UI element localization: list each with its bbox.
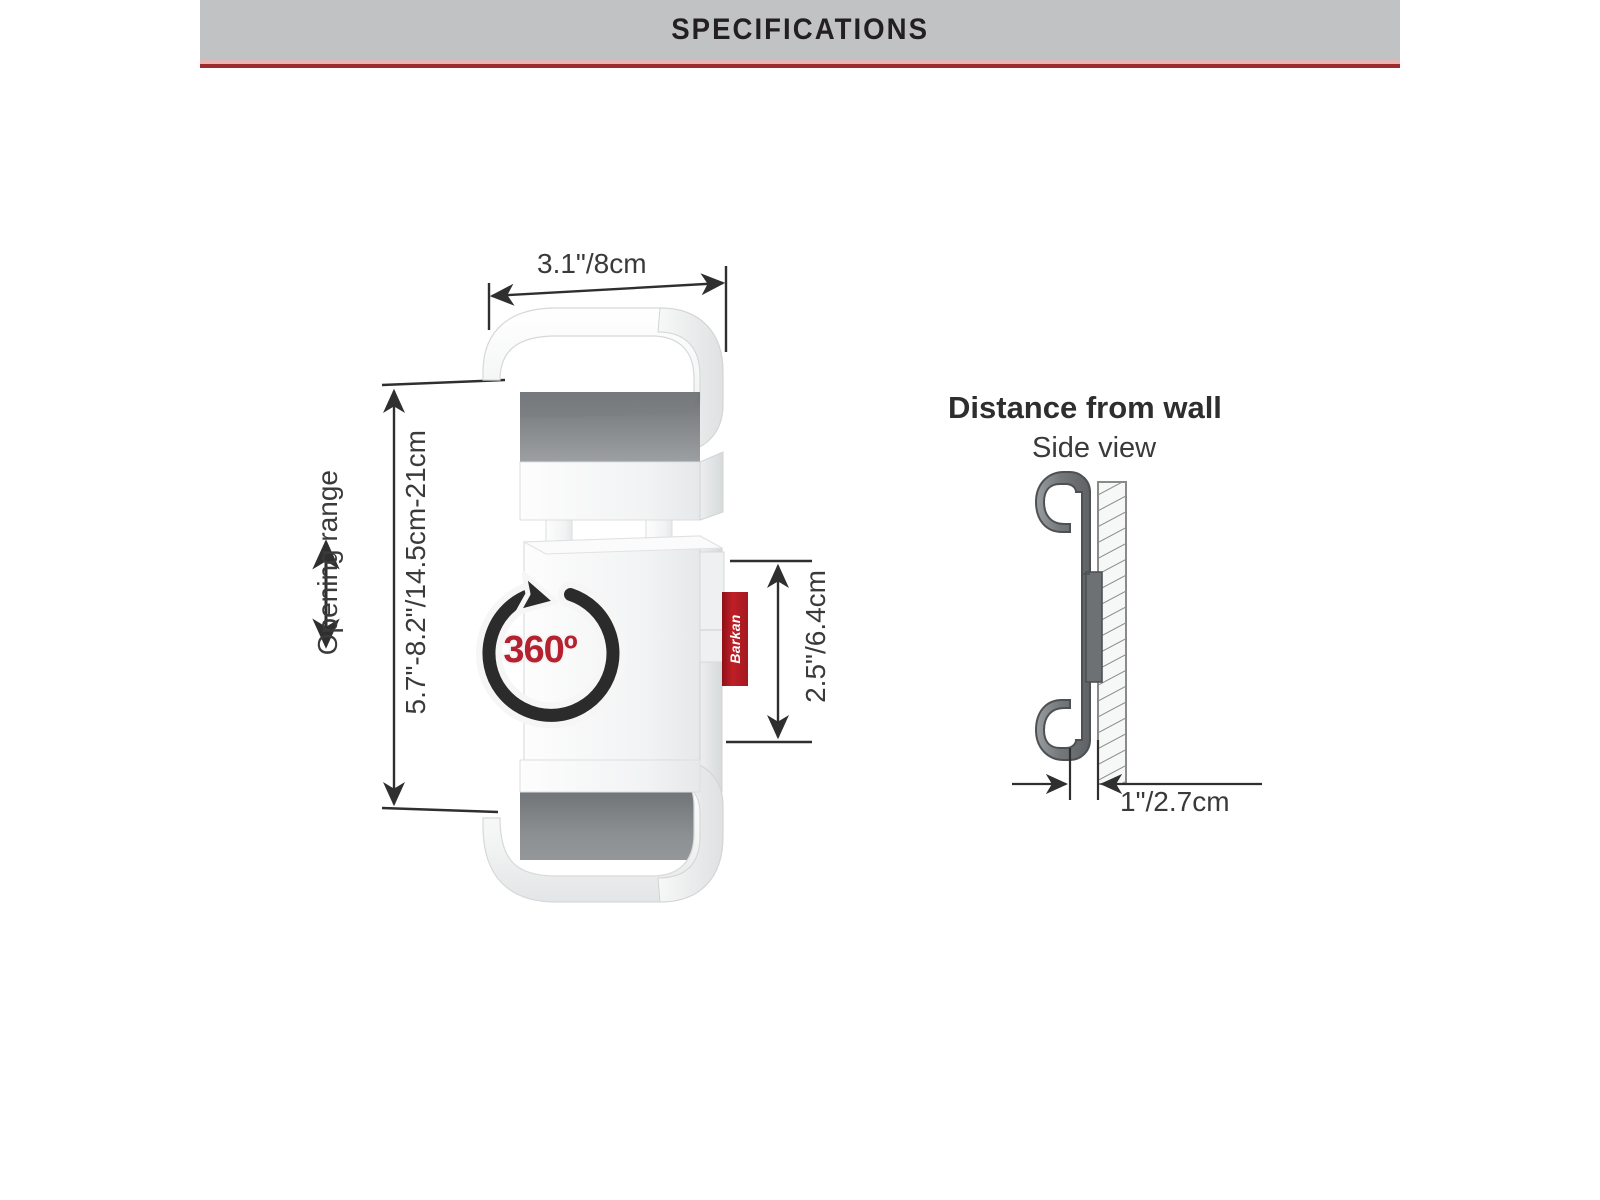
distance-from-wall-title: Distance from wall (948, 390, 1222, 426)
specifications-page: SPECIFICATIONS (0, 0, 1600, 1200)
rotation-badge: 360º (462, 572, 618, 728)
top-clamp-plate (520, 462, 700, 520)
width-dimension-label: 3.1"/8cm (537, 248, 647, 280)
bracket-profile (1036, 472, 1090, 760)
bottom-clamp-hook (483, 760, 723, 902)
top-clamp-hook (483, 308, 723, 452)
bottom-clamp-plate (520, 760, 700, 792)
bottom-clamp-inner-shade-lo (520, 832, 700, 860)
center-body-top (524, 536, 722, 554)
height-dimension-label: 5.7"-8.2"/14.5cm-21cm (400, 430, 432, 714)
opening-range-label: Opening range (312, 470, 344, 655)
top-clamp-cap (658, 308, 723, 452)
top-clamp-inner-shade-hi (520, 392, 700, 418)
rotation-badge-label: 360º (462, 572, 618, 728)
depth-dimension-label: 2.5"/6.4cm (800, 570, 832, 703)
bottom-clamp-cap (658, 760, 723, 902)
center-body-side (700, 536, 722, 800)
barkan-logo-tag: Barkan (722, 592, 748, 686)
top-clamp-plate-side (700, 452, 723, 520)
header-rule (200, 64, 1400, 68)
wall-distance-label: 1"/2.7cm (1120, 786, 1230, 818)
side-view-subtitle: Side view (1032, 432, 1156, 465)
bottom-clamp-inner-shade (520, 790, 700, 860)
top-clamp-inner-shade (520, 392, 700, 462)
page-title: SPECIFICATIONS (671, 13, 929, 47)
rotation-hub (700, 552, 724, 662)
wall-mount-pad (1086, 572, 1102, 682)
wall-hatch (1098, 482, 1126, 784)
barkan-logo-text: Barkan (727, 614, 743, 663)
side-view-illustration (1012, 472, 1262, 800)
slider-rail-right (646, 520, 672, 592)
header-bar: SPECIFICATIONS (200, 0, 1400, 60)
